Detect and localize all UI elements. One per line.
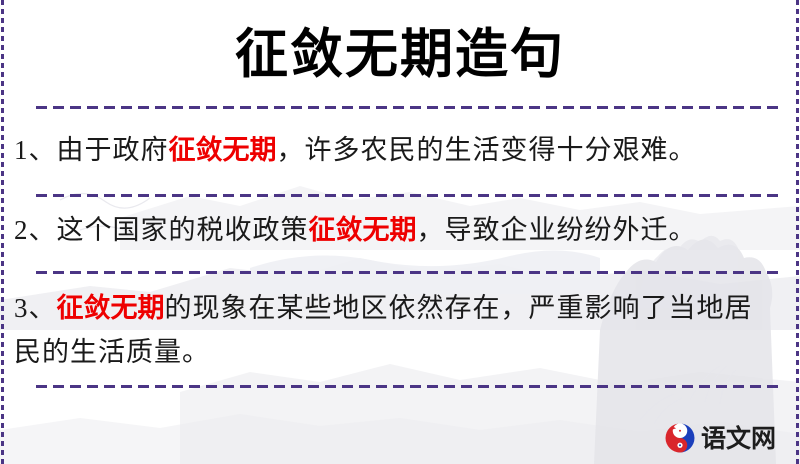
sentence-text-before: 这个国家的税收政策 <box>57 215 309 245</box>
separator-line-3 <box>36 271 780 274</box>
sentence-index: 3、 <box>14 293 57 323</box>
sentence-index: 2、 <box>14 215 57 245</box>
keyword-highlight: 征敛无期 <box>57 293 165 323</box>
page-title: 征敛无期造句 <box>0 24 800 85</box>
keyword-highlight: 征敛无期 <box>169 135 277 165</box>
sentence-index: 1、 <box>14 135 57 165</box>
example-sentence-1: 1、由于政府征敛无期，许多农民的生活变得十分艰难。 <box>14 128 776 172</box>
frame-rail-left <box>1 0 4 464</box>
site-logo[interactable]: 语文网 <box>664 422 776 454</box>
sentence-example-page: 征敛无期造句 1、由于政府征敛无期，许多农民的生活变得十分艰难。 2、这个国家的… <box>0 0 800 464</box>
example-sentence-2: 2、这个国家的税收政策征敛无期，导致企业纷纷外迁。 <box>14 208 776 252</box>
sentence-text-before: 由于政府 <box>57 135 169 165</box>
keyword-highlight: 征敛无期 <box>309 215 417 245</box>
separator-line-2 <box>36 194 780 197</box>
sentence-text-after: ，许多农民的生活变得十分艰难。 <box>277 135 697 165</box>
example-sentence-3: 3、征敛无期的现象在某些地区依然存在，严重影响了当地居民的生活质量。 <box>14 286 776 374</box>
sentence-text-after: ，导致企业纷纷外迁。 <box>417 215 697 245</box>
separator-line-4 <box>36 385 780 388</box>
separator-line-1 <box>36 106 780 109</box>
site-logo-text: 语文网 <box>701 426 776 451</box>
taiji-yinyang-icon <box>664 422 696 454</box>
frame-rail-right <box>796 0 799 464</box>
